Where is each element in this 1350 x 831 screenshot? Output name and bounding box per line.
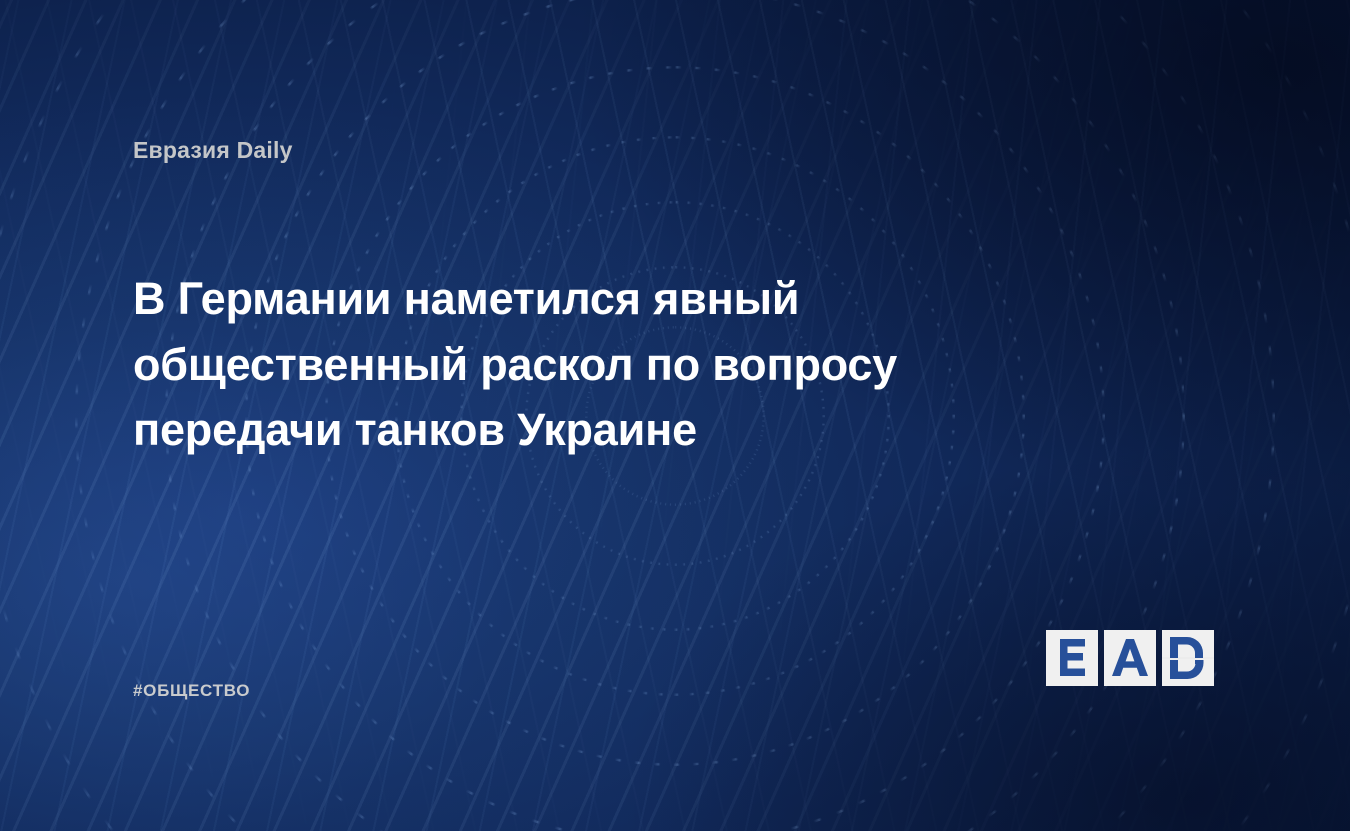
card-content: Евразия Daily В Германии наметился явный… [0,0,1350,831]
social-share-card: Евразия Daily В Германии наметился явный… [0,0,1350,831]
logo-tile-d [1162,630,1214,686]
category-hashtag[interactable]: #ОБЩЕСТВО [133,681,250,701]
logo-tile-a [1104,630,1156,686]
headline-title: В Германии наметился явный общественный … [133,266,1093,463]
brand-name: Евразия Daily [133,137,293,164]
logo-tile-e [1046,630,1098,686]
ead-logo[interactable] [1046,630,1214,686]
